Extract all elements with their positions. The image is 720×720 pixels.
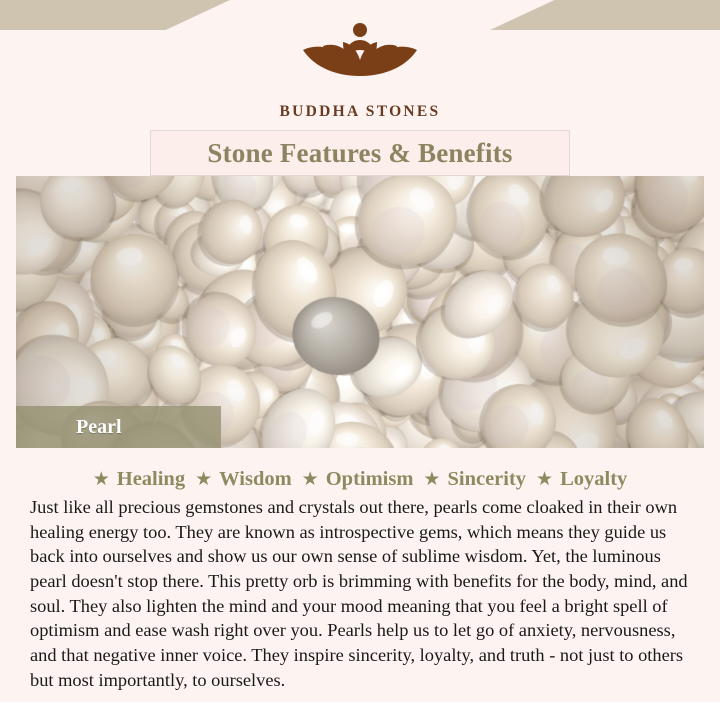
benefit-item: ★ Healing — [93, 468, 185, 491]
brand-name: BUDDHA STONES — [0, 103, 720, 121]
star-icon: ★ — [195, 470, 212, 489]
bottom-strip — [0, 702, 720, 720]
benefit-label: Sincerity — [447, 468, 526, 491]
star-icon: ★ — [93, 470, 110, 489]
benefit-label: Healing — [117, 468, 185, 491]
benefits-row: ★ Healing ★ Wisdom ★ Optimism ★ Sincerit… — [0, 468, 720, 491]
benefit-item: ★ Sincerity — [423, 468, 526, 491]
lotus-meditation-icon — [285, 14, 435, 94]
stone-name: Pearl — [16, 416, 122, 439]
star-icon: ★ — [302, 470, 319, 489]
benefit-label: Wisdom — [219, 468, 292, 491]
description-text: Just like all precious gemstones and cry… — [30, 495, 692, 692]
section-title-banner: Stone Features & Benefits — [150, 130, 570, 176]
brand-logo-block: BUDDHA STONES — [0, 14, 720, 121]
benefit-item: ★ Optimism — [302, 468, 414, 491]
benefit-label: Loyalty — [560, 468, 627, 491]
benefit-label: Optimism — [326, 468, 414, 491]
star-icon: ★ — [423, 470, 440, 489]
stone-name-tag: Pearl — [16, 406, 221, 448]
page-title: Stone Features & Benefits — [207, 138, 512, 169]
benefit-item: ★ Wisdom — [195, 468, 292, 491]
infographic-page: BUDDHA STONES Stone Features & Benefits … — [0, 0, 720, 720]
star-icon: ★ — [536, 470, 553, 489]
benefit-item: ★ Loyalty — [536, 468, 627, 491]
